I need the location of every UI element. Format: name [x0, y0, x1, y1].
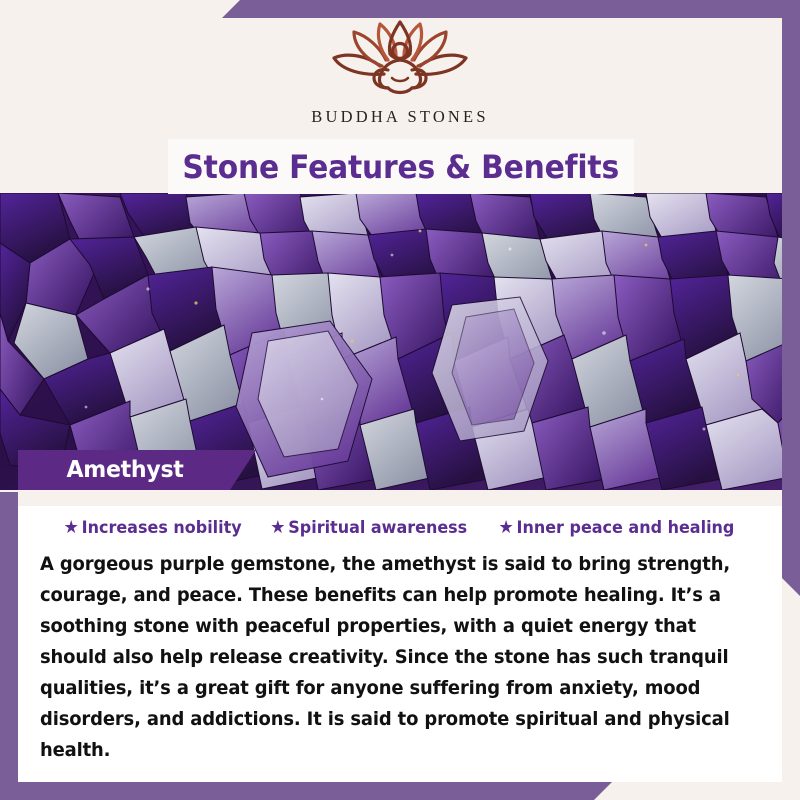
- frame-border-left: [0, 492, 18, 800]
- star-icon: ★: [498, 519, 513, 537]
- title-banner: Stone Features & Benefits: [168, 139, 634, 194]
- stone-name-badge: Amethyst: [18, 450, 256, 490]
- brand-logo: BUDDHA STONES: [0, 16, 800, 127]
- benefit-item: ★ Increases nobility: [64, 518, 242, 538]
- benefit-label: Spiritual awareness: [289, 518, 468, 538]
- star-icon: ★: [64, 519, 79, 537]
- benefits-list: ★ Increases nobility ★ Spiritual awarene…: [18, 506, 782, 538]
- benefit-label: Increases nobility: [82, 518, 242, 538]
- benefit-item: ★ Inner peace and healing: [498, 518, 734, 538]
- amethyst-crystal-cluster-graphic: [0, 193, 800, 490]
- lotus-meditation-figure-icon: [310, 16, 490, 104]
- frame-border-bottom: [0, 782, 612, 800]
- benefit-item: ★ Spiritual awareness: [271, 518, 468, 538]
- brand-name: BUDDHA STONES: [311, 107, 488, 127]
- benefit-label: Inner peace and healing: [516, 518, 734, 538]
- poster-root: BUDDHA STONES Stone Features & Benefits: [0, 0, 800, 800]
- content-panel: ★ Increases nobility ★ Spiritual awarene…: [18, 506, 782, 782]
- frame-border-right: [782, 0, 800, 596]
- hero-image: Amethyst: [0, 193, 800, 490]
- frame-border-top: [222, 0, 800, 18]
- description-paragraph: A gorgeous purple gemstone, the amethyst…: [40, 549, 741, 766]
- page-title: Stone Features & Benefits: [183, 148, 620, 186]
- star-icon: ★: [271, 519, 286, 537]
- hero-divider-strip: [0, 490, 800, 506]
- stone-name-label: Amethyst: [66, 457, 183, 483]
